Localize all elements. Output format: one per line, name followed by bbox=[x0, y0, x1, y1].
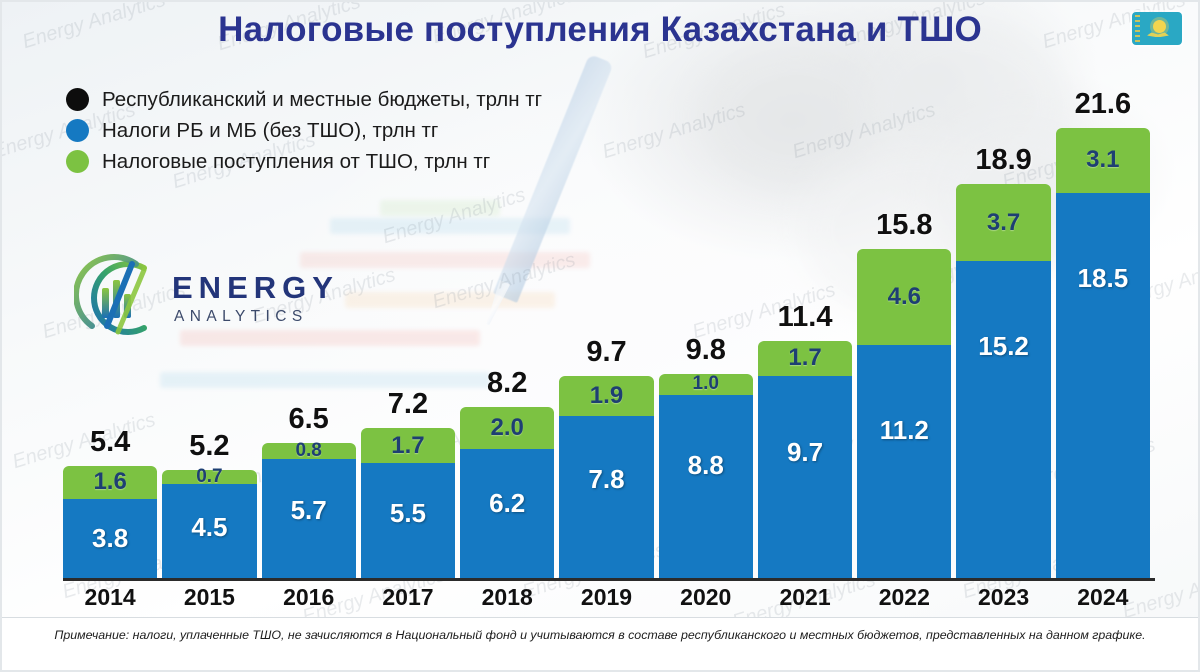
bar-group-2016[interactable]: 6.50.85.7 bbox=[262, 443, 356, 578]
bar-segment-value: 1.9 bbox=[590, 382, 623, 410]
bar-total-label: 7.2 bbox=[361, 388, 455, 421]
bar-segment-budget[interactable]: 8.8 bbox=[659, 395, 753, 578]
bar-total-label: 8.2 bbox=[460, 367, 554, 400]
bar-segment-tco[interactable]: 0.8 bbox=[262, 443, 356, 460]
bar-segment-value: 15.2 bbox=[978, 331, 1029, 362]
bar-segment-value: 6.2 bbox=[489, 488, 525, 519]
bar-total-label: 15.8 bbox=[857, 209, 951, 242]
bar-segment-budget[interactable]: 5.5 bbox=[361, 463, 455, 578]
x-axis-label-2019: 2019 bbox=[559, 584, 653, 611]
bar-total-label: 5.2 bbox=[162, 430, 256, 463]
bar-segment-budget[interactable]: 7.8 bbox=[559, 416, 653, 579]
bar-group-2021[interactable]: 11.41.79.7 bbox=[758, 341, 852, 579]
x-axis-label-2024: 2024 bbox=[1056, 584, 1150, 611]
bar-group-2024[interactable]: 21.63.118.5 bbox=[1056, 128, 1150, 578]
x-axis-label-2023: 2023 bbox=[956, 584, 1050, 611]
bar-segment-tco[interactable]: 2.0 bbox=[460, 407, 554, 449]
x-axis-label-2022: 2022 bbox=[857, 584, 951, 611]
bar-group-2023[interactable]: 18.93.715.2 bbox=[956, 184, 1050, 578]
bar-segment-budget[interactable]: 15.2 bbox=[956, 261, 1050, 578]
bar-group-2014[interactable]: 5.41.63.8 bbox=[63, 466, 157, 579]
x-axis-label-2014: 2014 bbox=[63, 584, 157, 611]
bar-total-label: 21.6 bbox=[1056, 88, 1150, 121]
bar-segment-tco[interactable]: 1.6 bbox=[63, 466, 157, 499]
bar-total-label: 11.4 bbox=[758, 301, 852, 334]
bar-segment-value: 18.5 bbox=[1078, 263, 1129, 294]
bar-segment-budget[interactable]: 18.5 bbox=[1056, 193, 1150, 578]
bar-segment-budget[interactable]: 6.2 bbox=[460, 449, 554, 578]
bar-segment-budget[interactable]: 4.5 bbox=[162, 484, 256, 578]
bar-segment-value: 9.7 bbox=[787, 437, 823, 468]
bar-segment-value: 1.7 bbox=[788, 344, 821, 372]
bar-segment-value: 3.8 bbox=[92, 523, 128, 554]
x-axis-label-2015: 2015 bbox=[162, 584, 256, 611]
bar-segment-tco[interactable]: 1.7 bbox=[361, 428, 455, 463]
x-axis-label-2021: 2021 bbox=[758, 584, 852, 611]
bar-segment-value: 4.5 bbox=[191, 512, 227, 543]
bar-total-label: 9.8 bbox=[659, 334, 753, 367]
bar-segment-value: 11.2 bbox=[880, 415, 929, 446]
bar-total-label: 5.4 bbox=[63, 426, 157, 459]
bar-total-label: 18.9 bbox=[956, 144, 1050, 177]
x-axis-label-2018: 2018 bbox=[460, 584, 554, 611]
bar-segment-value: 5.5 bbox=[390, 498, 426, 529]
bar-segment-tco[interactable]: 1.7 bbox=[758, 341, 852, 376]
bar-segment-value: 8.8 bbox=[688, 450, 724, 481]
bar-segment-tco[interactable]: 1.0 bbox=[659, 374, 753, 395]
bar-segment-budget[interactable]: 9.7 bbox=[758, 376, 852, 578]
chart-baseline-axis bbox=[63, 578, 1155, 581]
infographic-page: Energy AnalyticsEnergy AnalyticsEnergy A… bbox=[0, 0, 1200, 672]
bar-segment-budget[interactable]: 11.2 bbox=[857, 345, 951, 578]
x-axis-label-2020: 2020 bbox=[659, 584, 753, 611]
footnote-text: Примечание: налоги, уплаченные ТШО, не з… bbox=[22, 626, 1178, 645]
bar-segment-tco[interactable]: 3.1 bbox=[1056, 128, 1150, 193]
bar-segment-value: 5.7 bbox=[291, 495, 327, 526]
bar-group-2017[interactable]: 7.21.75.5 bbox=[361, 428, 455, 578]
stacked-bar-chart: 5.41.63.85.20.74.56.50.85.77.21.75.58.22… bbox=[0, 0, 1200, 672]
footnote-bar: Примечание: налоги, уплаченные ТШО, не з… bbox=[0, 617, 1200, 672]
bar-segment-value: 7.8 bbox=[588, 464, 624, 495]
bar-group-2020[interactable]: 9.81.08.8 bbox=[659, 374, 753, 578]
bar-total-label: 6.5 bbox=[262, 403, 356, 436]
bar-segment-value: 3.7 bbox=[987, 209, 1020, 237]
bar-segment-budget[interactable]: 3.8 bbox=[63, 499, 157, 578]
bar-segment-budget[interactable]: 5.7 bbox=[262, 459, 356, 578]
bar-group-2022[interactable]: 15.84.611.2 bbox=[857, 249, 951, 578]
bar-segment-tco[interactable]: 1.9 bbox=[559, 376, 653, 416]
bar-segment-value: 1.0 bbox=[693, 373, 719, 395]
bar-segment-value: 3.1 bbox=[1086, 146, 1119, 174]
bar-total-label: 9.7 bbox=[559, 336, 653, 369]
x-axis-label-2017: 2017 bbox=[361, 584, 455, 611]
bar-segment-tco[interactable]: 3.7 bbox=[956, 184, 1050, 261]
bar-segment-value: 2.0 bbox=[491, 414, 524, 442]
bar-group-2019[interactable]: 9.71.97.8 bbox=[559, 376, 653, 578]
bar-group-2015[interactable]: 5.20.74.5 bbox=[162, 470, 256, 578]
bar-group-2018[interactable]: 8.22.06.2 bbox=[460, 407, 554, 578]
bar-segment-value: 4.6 bbox=[888, 283, 921, 311]
x-axis-label-2016: 2016 bbox=[262, 584, 356, 611]
bar-segment-tco[interactable]: 0.7 bbox=[162, 470, 256, 485]
bar-segment-value: 1.6 bbox=[93, 468, 126, 496]
bar-segment-tco[interactable]: 4.6 bbox=[857, 249, 951, 345]
bar-segment-value: 1.7 bbox=[391, 432, 424, 460]
